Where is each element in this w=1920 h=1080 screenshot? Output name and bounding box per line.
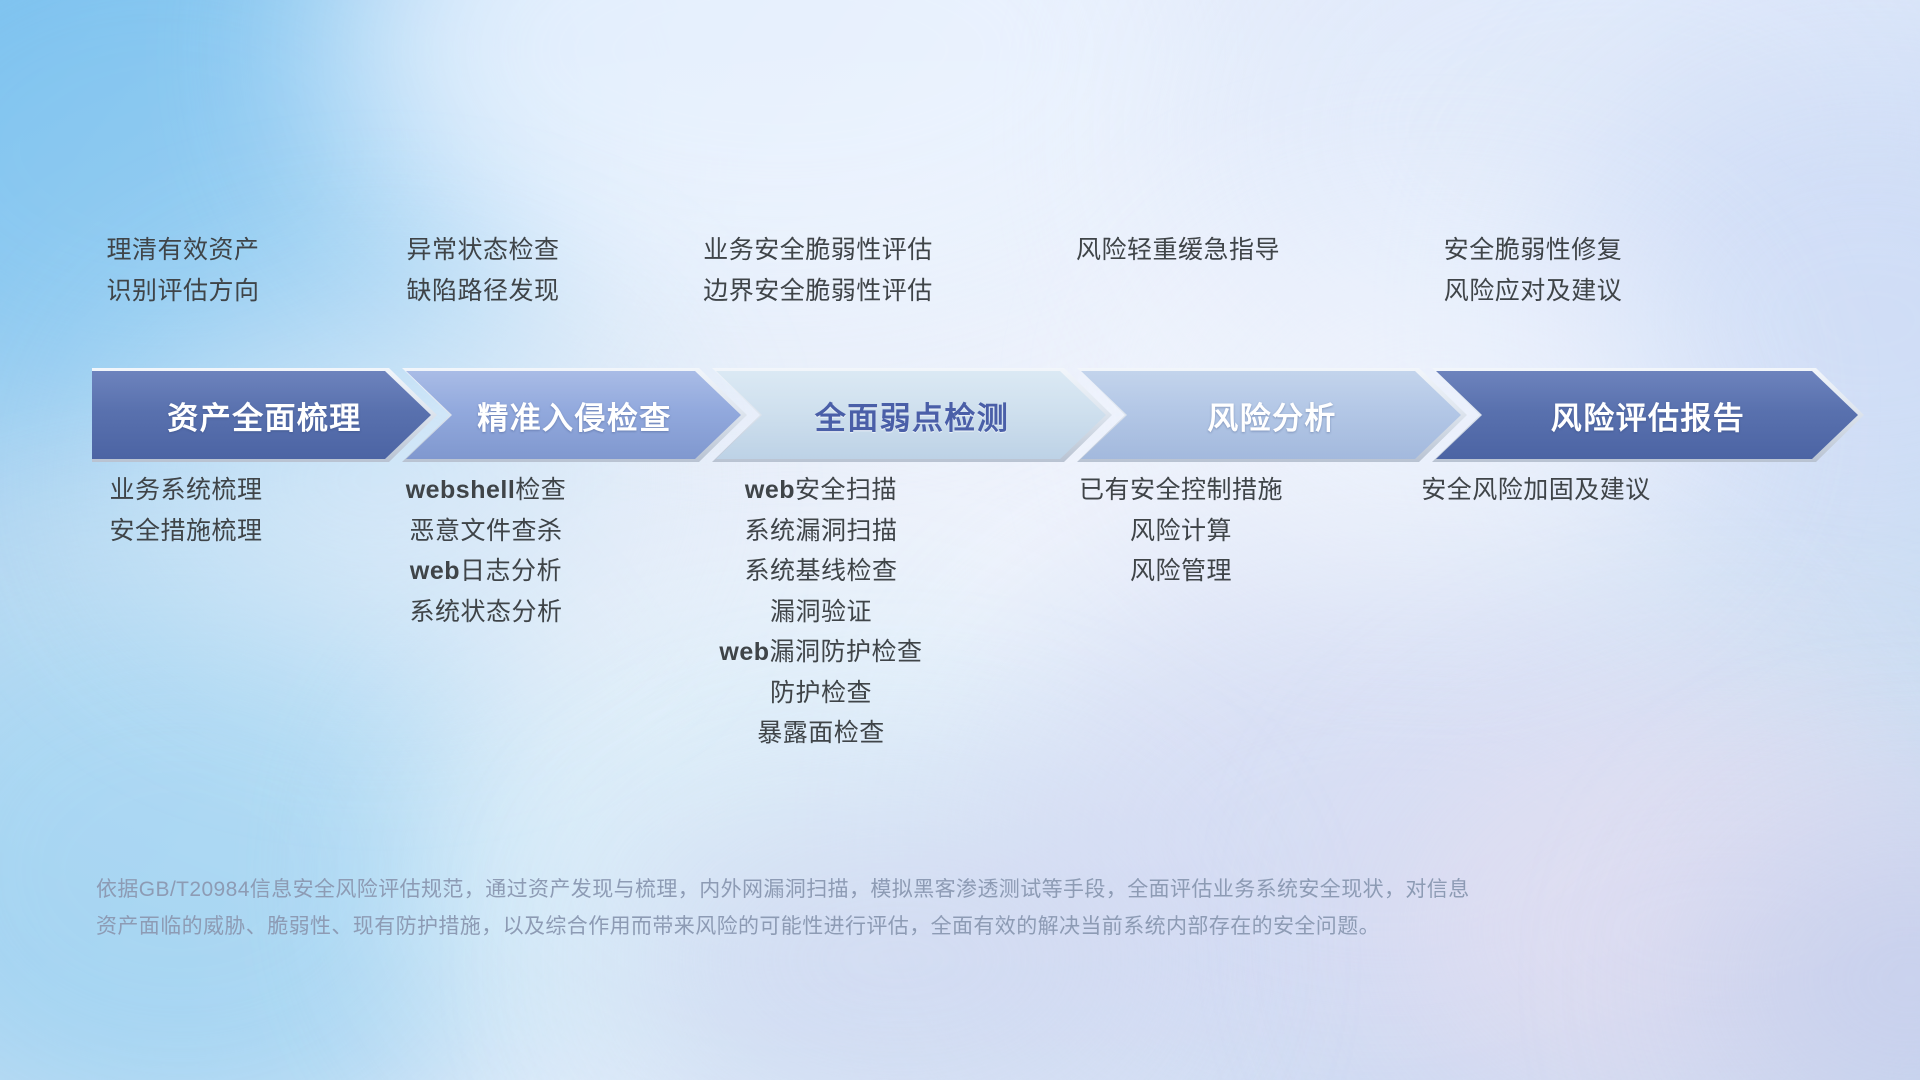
top-label: 风险轻重缓急指导 <box>1076 230 1280 271</box>
bottom-label: 系统状态分析 <box>409 592 562 633</box>
chevron-label: 精准入侵检查 <box>477 393 671 438</box>
top-label: 理清有效资产 <box>106 230 259 271</box>
bottom-label: webshell检查 <box>406 470 567 511</box>
bottom-label: 漏洞验证 <box>770 592 872 633</box>
chevron-label: 风险评估报告 <box>1551 393 1745 438</box>
top-labels-stage-5: 安全脆弱性修复 风险应对及建议 <box>1368 230 1698 311</box>
chevron-label: 资产全面梳理 <box>167 393 361 438</box>
top-label: 风险应对及建议 <box>1444 271 1623 312</box>
bottom-labels-row: 业务系统梳理 安全措施梳理 webshell检查 恶意文件查杀 web日志分析 … <box>0 470 1920 754</box>
top-labels-stage-3: 业务安全脆弱性评估 边界安全脆弱性评估 <box>648 230 988 311</box>
footnote-caption: 依据GB/T20984信息安全风险评估规范，通过资产发现与梳理，内外网漏洞扫描，… <box>96 872 1736 946</box>
bottom-label: 业务系统梳理 <box>109 470 262 511</box>
caption-line-2: 资产面临的威胁、脆弱性、现有防护措施，以及综合作用而带来风险的可能性进行评估，全… <box>96 909 1736 946</box>
top-label: 异常状态检查 <box>406 230 559 271</box>
top-labels-row: 理清有效资产 识别评估方向 异常状态检查 缺陷路径发现 业务安全脆弱性评估 边界… <box>0 230 1920 311</box>
top-label: 业务安全脆弱性评估 <box>703 230 933 271</box>
chevron-stage-4[interactable]: 风险分析 <box>1077 368 1467 462</box>
top-labels-stage-4: 风险轻重缓急指导 <box>1013 230 1343 311</box>
caption-line-1: 依据GB/T20984信息安全风险评估规范，通过资产发现与梳理，内外网漏洞扫描，… <box>96 872 1736 909</box>
top-label: 识别评估方向 <box>106 271 259 312</box>
bottom-label: 恶意文件查杀 <box>409 511 562 552</box>
bottom-label: web漏洞防护检查 <box>719 632 922 673</box>
chevron-stage-1[interactable]: 资产全面梳理 <box>92 368 437 462</box>
bottom-label: 安全措施梳理 <box>109 511 262 552</box>
bottom-label: web日志分析 <box>410 551 562 592</box>
chevron-label: 全面弱点检测 <box>815 393 1009 438</box>
bottom-label: 防护检查 <box>770 673 872 714</box>
bottom-label: 暴露面检查 <box>757 713 885 754</box>
chevron-stage-2[interactable]: 精准入侵检查 <box>402 368 747 462</box>
bottom-label: 风险计算 <box>1130 511 1232 552</box>
chevron-label: 风险分析 <box>1207 393 1337 438</box>
bottom-labels-stage-2: webshell检查 恶意文件查杀 web日志分析 系统状态分析 <box>336 470 636 754</box>
bottom-labels-stage-1: 业务系统梳理 安全措施梳理 <box>36 470 336 754</box>
bottom-label: 系统漏洞扫描 <box>744 511 897 552</box>
top-labels-stage-1: 理清有效资产 识别评估方向 <box>33 230 333 311</box>
bottom-label: 安全风险加固及建议 <box>1421 470 1651 511</box>
top-label: 缺陷路径发现 <box>406 271 559 312</box>
bottom-label: 系统基线检查 <box>744 551 897 592</box>
bottom-label: 风险管理 <box>1130 551 1232 592</box>
bottom-label: web安全扫描 <box>745 470 897 511</box>
top-label: 边界安全脆弱性评估 <box>703 271 933 312</box>
bottom-labels-stage-5: 安全风险加固及建议 <box>1371 470 1701 754</box>
top-labels-stage-2: 异常状态检查 缺陷路径发现 <box>333 230 633 311</box>
chevron-stage-5[interactable]: 风险评估报告 <box>1432 368 1864 462</box>
bottom-labels-stage-3: web安全扫描 系统漏洞扫描 系统基线检查 漏洞验证 web漏洞防护检查 防护检… <box>651 470 991 754</box>
bottom-label: 已有安全控制措施 <box>1079 470 1283 511</box>
process-chevron-band: 资产全面梳理 精准入侵检查 全面弱点检测 风险分析 <box>92 368 1864 462</box>
chevron-stage-3[interactable]: 全面弱点检测 <box>712 368 1112 462</box>
bottom-labels-stage-4: 已有安全控制措施 风险计算 风险管理 <box>1016 470 1346 754</box>
top-label: 安全脆弱性修复 <box>1444 230 1623 271</box>
